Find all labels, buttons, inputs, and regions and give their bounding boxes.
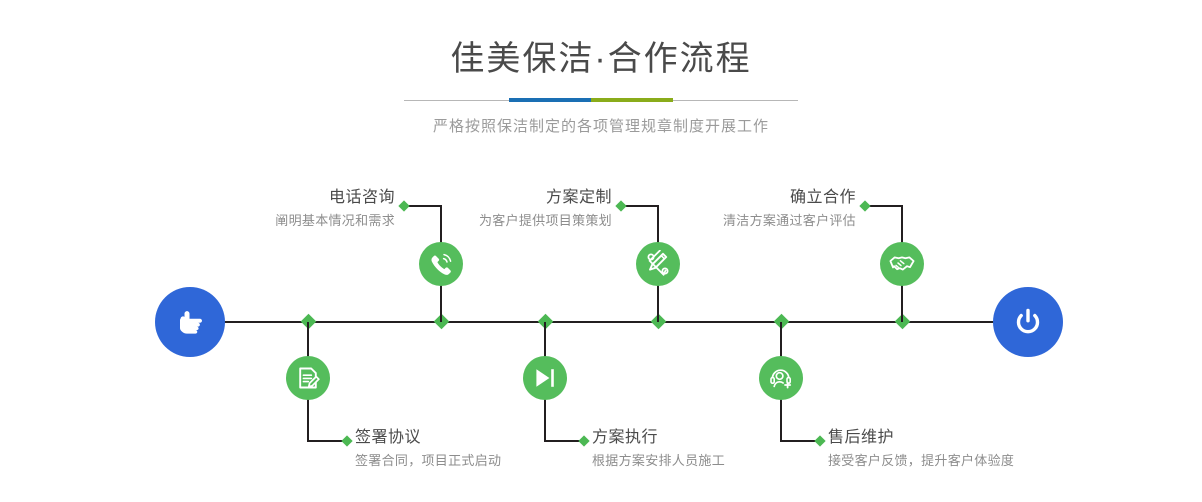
customer-support-icon [767, 364, 795, 392]
phone-call-icon [427, 250, 455, 278]
step-leader-tip-3 [615, 200, 626, 211]
step-label-6: 售后维护 接受客户反馈，提升客户体验度 [828, 428, 1014, 470]
step-leader-tip-4 [578, 435, 589, 446]
step-label-1: 电话咨询 阐明基本情况和需求 [215, 188, 395, 230]
step-leader-tip-6 [814, 435, 825, 446]
step-title-3: 方案定制 [432, 188, 612, 208]
step-label-4: 方案执行 根据方案安排人员施工 [592, 428, 725, 470]
step-icon-5[interactable] [880, 242, 924, 286]
pencil-design-icon [644, 250, 672, 278]
step-leader-3 [622, 205, 659, 207]
timeline-end-endpoint[interactable] [993, 287, 1063, 357]
step-icon-4[interactable] [523, 356, 567, 400]
step-desc-2: 签署合同，项目正式启动 [355, 452, 501, 470]
process-timeline: 电话咨询 阐明基本情况和需求 签署协议 签署合同，项目正式启动 [0, 0, 1202, 502]
step-desc-5: 清洁方案通过客户评估 [676, 212, 856, 230]
step-leader-tip-5 [859, 200, 870, 211]
step-label-5: 确立合作 清洁方案通过客户评估 [676, 188, 856, 230]
step-desc-1: 阐明基本情况和需求 [215, 212, 395, 230]
sign-document-icon [294, 364, 322, 392]
handshake-icon [888, 250, 916, 278]
step-title-1: 电话咨询 [215, 188, 395, 208]
step-desc-3: 为客户提供项目策策划 [432, 212, 612, 230]
step-icon-6[interactable] [759, 356, 803, 400]
play-execute-icon [531, 364, 559, 392]
timeline-start-endpoint[interactable] [155, 287, 225, 357]
step-leader-5 [866, 205, 903, 207]
step-leader-tip-2 [341, 435, 352, 446]
step-title-6: 售后维护 [828, 428, 1014, 448]
step-icon-1[interactable] [419, 242, 463, 286]
step-title-4: 方案执行 [592, 428, 725, 448]
step-desc-6: 接受客户反馈，提升客户体验度 [828, 452, 1014, 470]
step-desc-4: 根据方案安排人员施工 [592, 452, 725, 470]
step-icon-3[interactable] [636, 242, 680, 286]
step-icon-2[interactable] [286, 356, 330, 400]
step-label-3: 方案定制 为客户提供项目策策划 [432, 188, 612, 230]
step-title-5: 确立合作 [676, 188, 856, 208]
step-title-2: 签署协议 [355, 428, 501, 448]
step-leader-tip-1 [398, 200, 409, 211]
step-label-2: 签署协议 签署合同，项目正式启动 [355, 428, 501, 470]
pointing-hand-icon [170, 302, 210, 342]
power-icon [1008, 302, 1048, 342]
cooperation-flow-page: 佳美保洁·合作流程 严格按照保洁制定的各项管理规章制度开展工作 [0, 0, 1202, 502]
